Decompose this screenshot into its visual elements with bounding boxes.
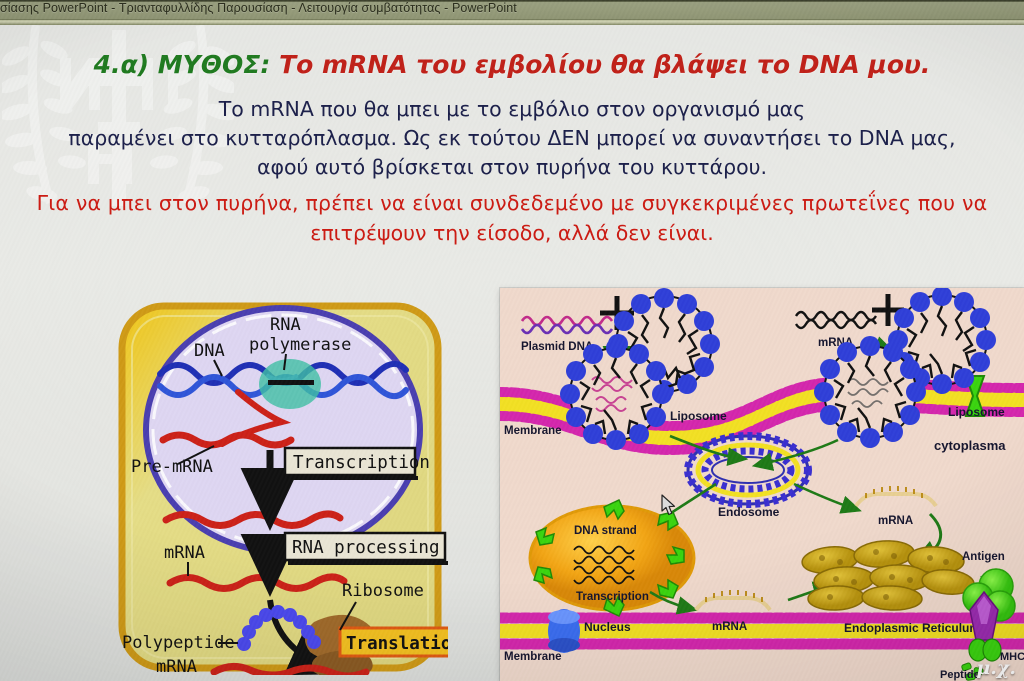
label-plasmid-dna: Plasmid DNA [521,341,593,353]
label-endoplasmic-reticulum: Endoplasmic Reticulum [844,621,980,635]
polymerase-track [268,380,314,385]
paragraph-blue: Το mRNA που θα μπει με το εμβόλιο στον ο… [0,95,1024,182]
label-liposome-right: Liposome [948,405,1005,419]
svg-text:Translation: Translation [346,634,448,654]
photo-signature-watermark: μ.χ. [976,657,1016,679]
figure-vaccine-mechanism[interactable]: Plasmid DNA [500,288,1024,681]
svg-text:Transcription: Transcription [293,453,430,473]
paragraph-red-line-2: επιτρέψουν την είσοδο, αλλά δεν είναι. [0,218,1024,248]
label-pre-mrna: Pre-mRNA [131,457,213,477]
svg-text:RNA processing: RNA processing [292,538,440,558]
paragraph-blue-line-1: Το mRNA που θα μπει με το εμβόλιο στον ο… [0,95,1024,124]
label-mrna-cytoplasm: mRNA [156,657,197,675]
label-mrna-nucleus: mRNA [164,543,205,563]
endosome [688,436,808,504]
label-dna: DNA [194,341,225,361]
label-liposome-left: Liposome [670,409,727,423]
screenshot-root: ουσίασης PowerPoint - Τριανταφυλλίδης Πα… [0,0,1024,681]
paragraph-blue-line-3: αφού αυτό βρίσκεται στον πυρήνα του κυττ… [0,153,1024,182]
projected-slide-surface: ουσίασης PowerPoint - Τριανταφυλλίδης Πα… [0,0,1024,681]
label-transcription-right: Transcription [576,591,649,603]
label-nucleus: Nucleus [584,620,631,634]
translation-label-box: Translation [340,628,448,656]
paragraph-blue-line-2: παραμένει στο κυτταρόπλασμα. Ως εκ τούτο… [0,124,1024,153]
label-mrna-bottom-mid: mRNA [712,621,747,633]
heading-myth-statement: Το mRNA του εμβολίου θα βλάψει το DNA μο… [270,50,930,79]
powerpoint-title-bar[interactable]: ουσίασης PowerPoint - Τριανταφυλλίδης Πα… [0,0,1024,20]
label-antigen: Antigen [962,551,1005,563]
paragraph-red: Για να μπει στον πυρήνα, πρέπει να είναι… [0,188,1024,248]
transcription-label-box: Transcription [285,448,430,480]
label-peptide: Peptide [940,669,980,681]
label-rna-polymerase-line2: polymerase [249,335,351,355]
label-endosome: Endosome [718,505,780,519]
label-dna-strand: DNA strand [574,525,637,537]
figure-central-dogma[interactable]: Transcription RNA processing Translation… [118,300,448,675]
label-polypeptide: Polypeptide [122,633,235,653]
label-membrane-bottom: Membrane [504,651,562,663]
membrane-channel-protein-blue [548,609,580,653]
mouse-pointer-icon [661,494,677,516]
slide-heading: 4.α) ΜΥΘΟΣ: Το mRNA του εμβολίου θα βλάψ… [0,50,1024,79]
paragraph-red-line-1: Για να μπει στον πυρήνα, πρέπει να είναι… [0,188,1024,218]
rna-processing-label-box: RNA processing [285,533,448,565]
window-title-text: ουσίασης PowerPoint - Τριανταφυλλίδης Πα… [0,1,517,15]
label-ribosome: Ribosome [342,581,424,601]
heading-myth-prefix: 4.α) ΜΥΘΟΣ: [94,50,271,79]
label-cytoplasma: cytoplasma [934,438,1006,453]
slide-text-block: 4.α) ΜΥΘΟΣ: Το mRNA του εμβολίου θα βλάψ… [0,22,1024,248]
label-membrane-top: Membrane [504,425,562,437]
label-rna-polymerase-line1: RNA [270,315,301,335]
label-mrna-mid-right: mRNA [878,515,913,527]
